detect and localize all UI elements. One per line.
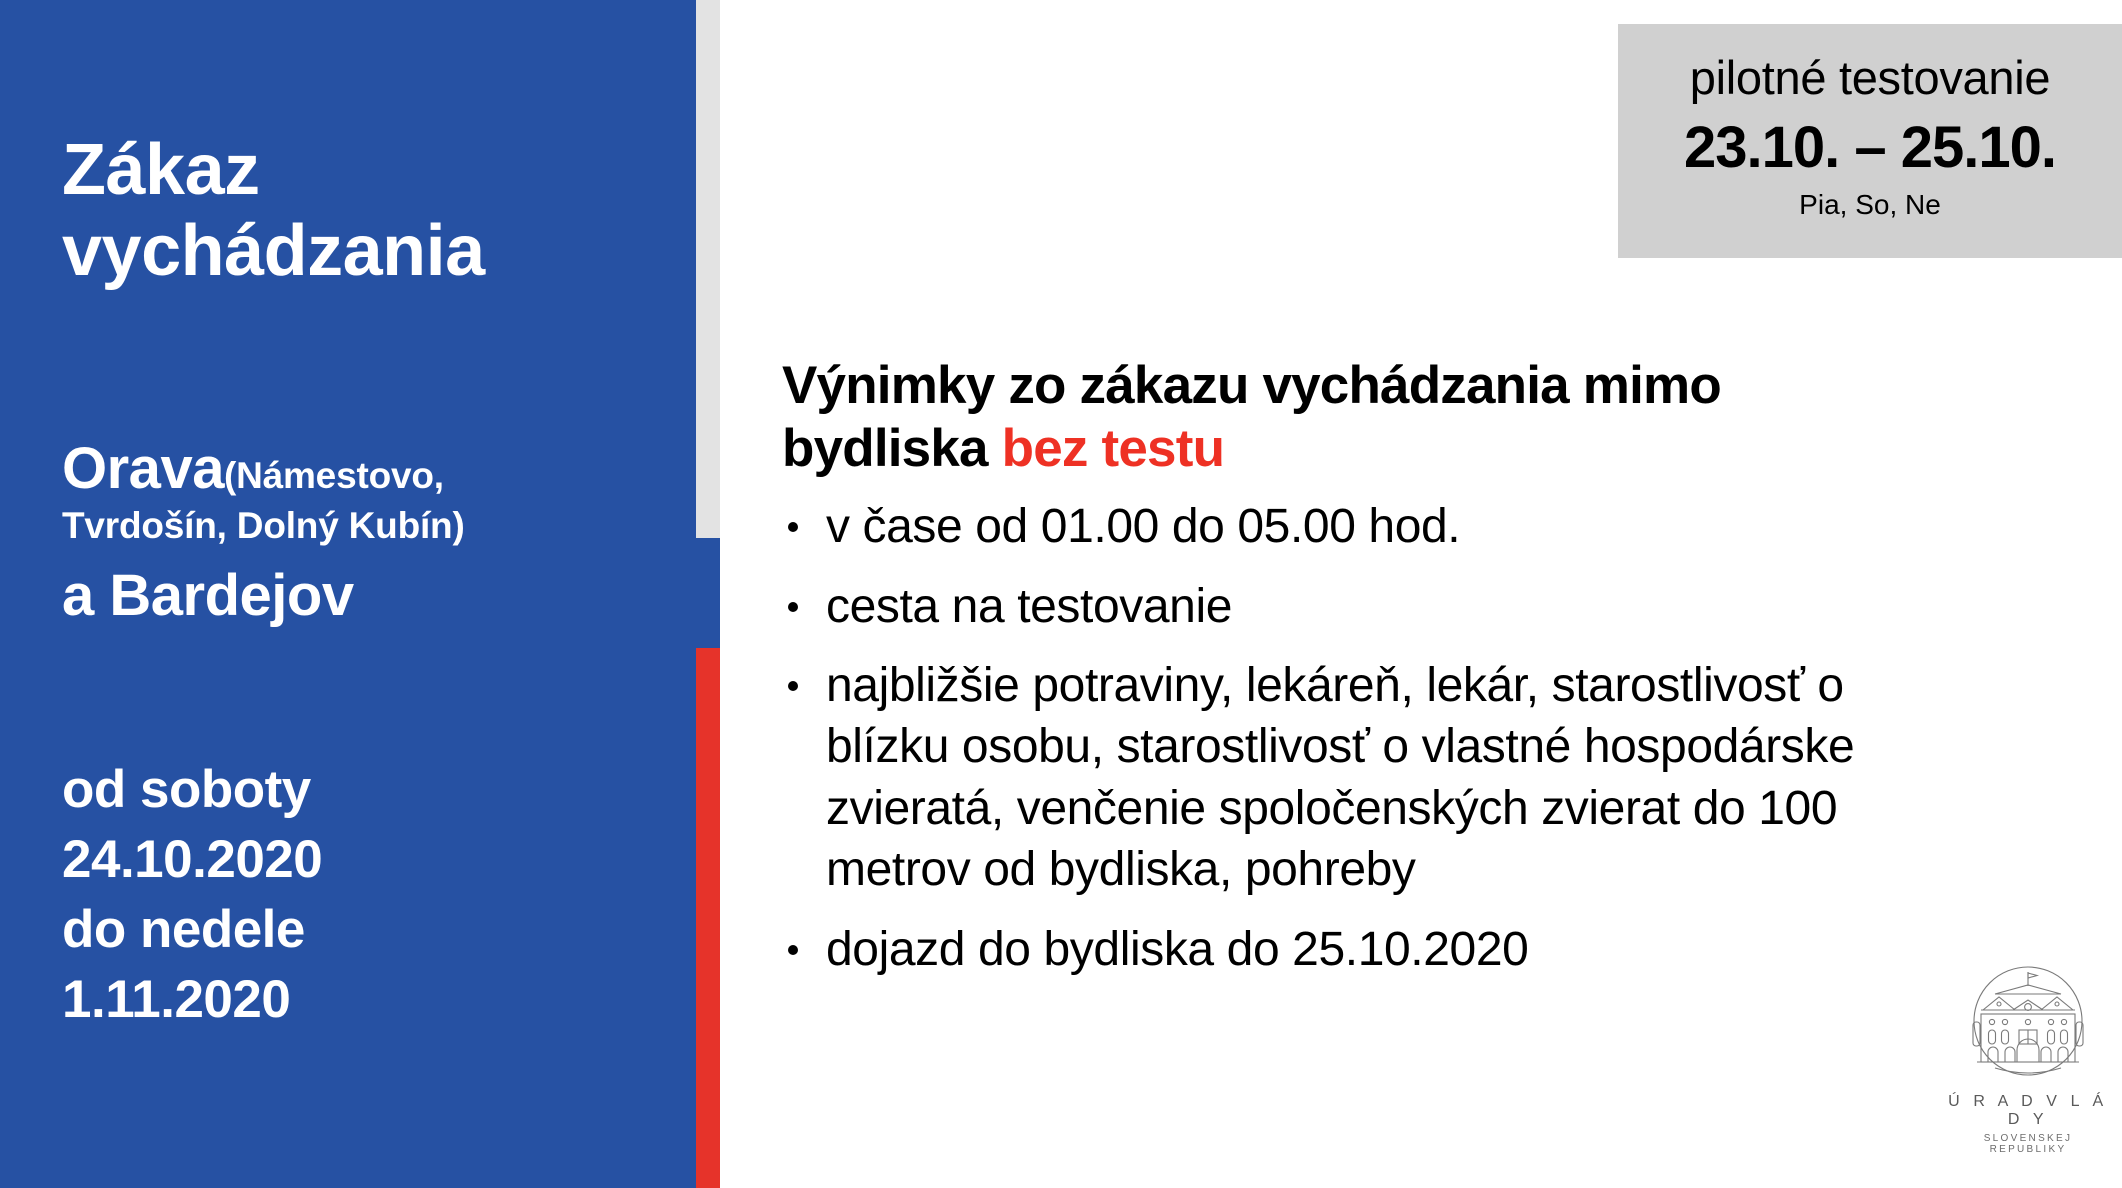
region-city: a Bardejov bbox=[62, 561, 672, 631]
exceptions-list: v čase od 01.00 do 05.00 hod. cesta na t… bbox=[782, 496, 1982, 980]
list-item: dojazd do bydliska do 25.10.2020 bbox=[782, 919, 1956, 980]
accent-stripe-white bbox=[696, 0, 720, 538]
government-building-icon bbox=[1944, 960, 2112, 1086]
logo-name: Ú R A D V L Á D Y bbox=[1944, 1093, 2112, 1129]
accent-stripe-red bbox=[696, 648, 720, 1188]
pilot-testing-title: pilotné testovanie bbox=[1618, 52, 2122, 105]
list-item: cesta na testovanie bbox=[782, 576, 1956, 637]
region-name: Orava bbox=[62, 436, 224, 501]
list-item: najbližšie potraviny, lekáreň, lekár, st… bbox=[782, 655, 1956, 901]
exceptions-heading-accent: bez testu bbox=[1002, 419, 1225, 478]
pilot-testing-days: Pia, So, Ne bbox=[1618, 188, 2122, 222]
poster-root: Zákaz vychádzania Orava(Námestovo, Tvrdo… bbox=[0, 0, 2122, 1188]
title-line-2: vychádzania bbox=[62, 211, 662, 292]
main-content: Výnimky zo zákazu vychádzania mimo bydli… bbox=[782, 355, 1982, 998]
region-detail-line-2: Tvrdošín, Dolný Kubín) bbox=[62, 504, 672, 548]
accent-stripe-blue bbox=[696, 538, 720, 648]
title-line-1: Zákaz bbox=[62, 130, 662, 211]
government-office-logo: Ú R A D V L Á D Y SLOVENSKEJ REPUBLIKY bbox=[1944, 960, 2112, 1155]
region-name-row: Orava(Námestovo, bbox=[62, 436, 672, 502]
validity-date-block: od soboty 24.10.2020 do nedele 1.11.2020 bbox=[62, 755, 662, 1035]
pilot-testing-dates: 23.10. – 25.10. bbox=[1618, 113, 2122, 183]
exceptions-heading-text: Výnimky zo zákazu vychádzania mimo bydli… bbox=[782, 356, 1721, 478]
exceptions-heading: Výnimky zo zákazu vychádzania mimo bydli… bbox=[782, 355, 1872, 480]
list-item: v čase od 01.00 do 05.00 hod. bbox=[782, 496, 1956, 557]
date-line-4: 1.11.2020 bbox=[62, 965, 662, 1035]
date-line-2: 24.10.2020 bbox=[62, 825, 662, 895]
poster-title: Zákaz vychádzania bbox=[62, 130, 662, 291]
date-line-1: od soboty bbox=[62, 755, 662, 825]
region-block: Orava(Námestovo, Tvrdošín, Dolný Kubín) … bbox=[62, 436, 672, 630]
pilot-testing-box: pilotné testovanie 23.10. – 25.10. Pia, … bbox=[1618, 24, 2122, 258]
logo-subtitle: SLOVENSKEJ REPUBLIKY bbox=[1944, 1133, 2112, 1155]
region-detail-line-1: (Námestovo, bbox=[224, 455, 444, 496]
date-line-3: do nedele bbox=[62, 895, 662, 965]
